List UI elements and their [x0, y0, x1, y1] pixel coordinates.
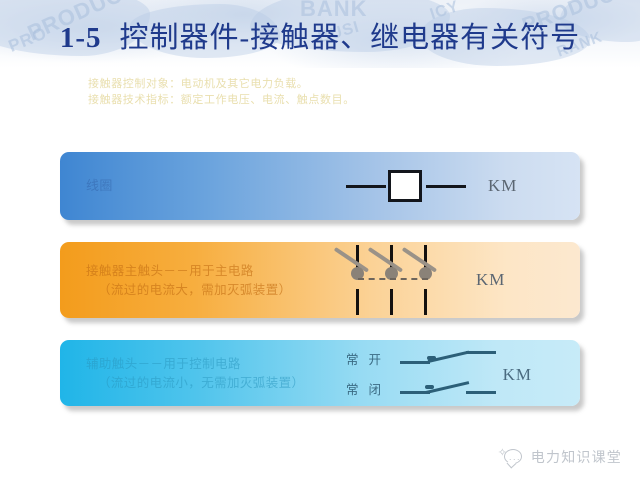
pole-lead-bottom	[390, 289, 393, 315]
row-aux-contacts-symbol-area: 常 开 常 闭	[330, 340, 580, 406]
contact-lead-left	[400, 361, 430, 364]
normally-open-contact-icon	[400, 349, 496, 367]
note-line-control-object: 接触器控制对象：电动机及其它电力负载。	[88, 76, 508, 92]
row-aux-contacts-designator: KM	[503, 365, 532, 385]
phase-pole-c	[424, 245, 427, 315]
pole-lead-bottom	[356, 289, 359, 315]
normally-closed-contact-icon	[400, 379, 496, 397]
coil-lead-left	[346, 185, 386, 188]
aux-contact-nc-label: 常 闭	[346, 379, 392, 398]
row-coil-designator: KM	[488, 176, 517, 196]
notes-block: 接触器控制对象：电动机及其它电力负载。 接触器技术指标：额定工作电压、电流、触点…	[88, 76, 508, 108]
row-coil-label: 线圈	[60, 177, 113, 196]
note-line-tech-spec: 接触器技术指标：额定工作电压、电流、触点数目。	[88, 92, 508, 108]
contact-lead-right	[466, 391, 496, 394]
aux-contact-no-label: 常 开	[346, 349, 392, 368]
coil-symbol-icon	[346, 166, 466, 206]
row-main-contacts-line2: （流过的电流大，需加灭弧装置）	[86, 280, 292, 299]
coil-body	[388, 170, 422, 202]
slide-header: PRODUCT PRO BANK BUSI ICY PRODUCT RANK 1…	[0, 0, 640, 68]
phase-pole-a	[356, 245, 359, 315]
row-main-contacts: 接触器主触头－－用于主电路 （流过的电流大，需加灭弧装置）	[60, 242, 580, 318]
aux-contacts-icon-group: 常 开 常 闭	[346, 343, 536, 403]
row-aux-contacts-line2: （流过的电流小，无需加灭弧装置）	[86, 373, 304, 392]
speech-bubble-icon: ✧ ···	[498, 446, 524, 468]
three-phase-contacts-icon	[346, 245, 442, 315]
slide-root: PRODUCT PRO BANK BUSI ICY PRODUCT RANK 1…	[0, 0, 640, 480]
footer-watermark: ✧ ··· 电力知识课堂	[498, 446, 622, 468]
bubble-dots: ···	[509, 454, 521, 464]
row-main-contacts-label: 接触器主触头－－用于主电路 （流过的电流大，需加灭弧装置）	[60, 242, 292, 318]
title-text: 控制器件-接触器、继电器有关符号	[120, 22, 581, 54]
row-coil: 线圈 KM	[60, 152, 580, 220]
pole-lead-bottom	[424, 289, 427, 315]
phase-pole-b	[390, 245, 393, 315]
contact-lead-right	[466, 351, 496, 354]
mechanical-link-dashed	[358, 278, 428, 280]
footer-watermark-label: 电力知识课堂	[531, 447, 622, 467]
row-main-contacts-line1: 接触器主触头－－用于主电路	[86, 263, 254, 278]
row-main-contacts-designator: KM	[476, 270, 505, 290]
symbol-rows: 线圈 KM 接触器主触头－－用于主电路 （流过的电流大，需加灭弧装置）	[0, 152, 640, 428]
row-aux-contacts-line1: 辅助触头－－用于控制电路	[86, 356, 241, 371]
title-number: 1-5	[60, 22, 102, 54]
row-main-contacts-symbol-area: KM	[330, 242, 580, 318]
row-aux-contacts: 辅助触头－－用于控制电路 （流过的电流小，无需加灭弧装置） 常 开	[60, 340, 580, 406]
row-coil-symbol-area: KM	[330, 152, 580, 220]
coil-lead-right	[426, 185, 466, 188]
page-title: 1-5控制器件-接触器、继电器有关符号	[0, 14, 640, 56]
row-aux-contacts-label: 辅助触头－－用于控制电路 （流过的电流小，无需加灭弧装置）	[60, 340, 304, 406]
